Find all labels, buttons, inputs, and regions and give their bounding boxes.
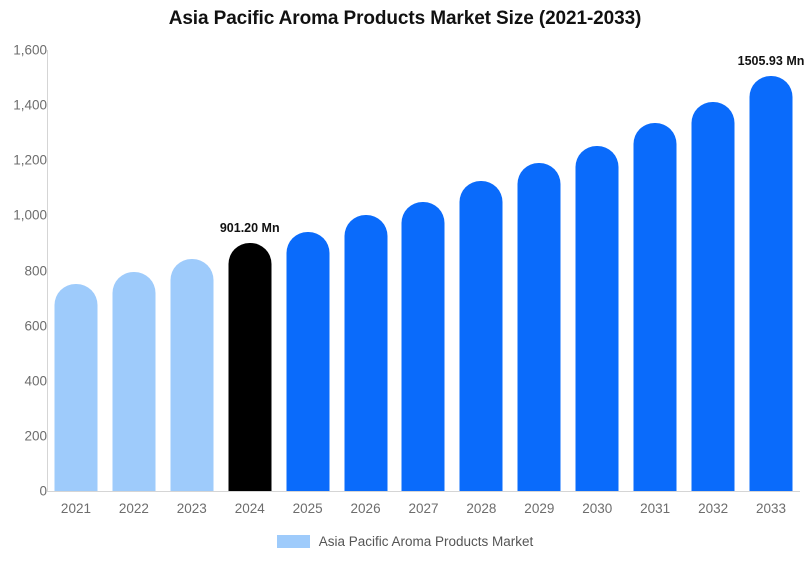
bar-group: 1505.93 Mn2033	[742, 0, 800, 562]
y-axis-tick-label: 0	[3, 484, 47, 499]
x-axis-tick-label: 2032	[698, 501, 728, 516]
bar-group: 2030	[568, 0, 626, 562]
bars-layer: 202120222023901.20 Mn2024202520262027202…	[47, 0, 800, 562]
x-axis-tick-label: 2025	[293, 501, 323, 516]
y-axis-tick-label: 200	[3, 428, 47, 443]
y-axis-tick-label: 600	[3, 318, 47, 333]
bar-group: 901.20 Mn2024	[221, 0, 279, 562]
bar-2033[interactable]	[750, 76, 793, 491]
x-axis-tick-label: 2024	[235, 501, 265, 516]
y-axis-tick-label: 1,600	[3, 43, 47, 58]
bar-group: 2022	[105, 0, 163, 562]
y-axis-tick-label: 1,200	[3, 153, 47, 168]
bar-value-label: 901.20 Mn	[220, 221, 280, 235]
bar-2021[interactable]	[54, 284, 97, 491]
x-axis-tick-label: 2029	[524, 501, 554, 516]
bar-group: 2025	[279, 0, 337, 562]
bar-chart: Asia Pacific Aroma Products Market Size …	[0, 0, 810, 562]
legend-swatch	[277, 535, 310, 548]
bar-2031[interactable]	[634, 123, 677, 491]
bar-group: 2032	[684, 0, 742, 562]
bar-group: 2027	[395, 0, 453, 562]
x-axis-tick-label: 2023	[177, 501, 207, 516]
y-axis: 02004006008001,0001,2001,4001,600	[0, 0, 47, 562]
bar-2029[interactable]	[518, 163, 561, 491]
legend-label: Asia Pacific Aroma Products Market	[319, 534, 534, 549]
bar-group: 2029	[510, 0, 568, 562]
bar-group: 2021	[47, 0, 105, 562]
bar-2030[interactable]	[576, 146, 619, 491]
bar-group: 2026	[337, 0, 395, 562]
bar-2022[interactable]	[112, 272, 155, 491]
bar-group: 2028	[452, 0, 510, 562]
x-axis-tick-label: 2028	[466, 501, 496, 516]
bar-2026[interactable]	[344, 215, 387, 491]
bar-2032[interactable]	[692, 102, 735, 491]
bar-2027[interactable]	[402, 202, 445, 491]
bar-group: 2031	[626, 0, 684, 562]
bar-2025[interactable]	[286, 232, 329, 491]
y-axis-tick-label: 1,400	[3, 98, 47, 113]
y-axis-tick-label: 1,000	[3, 208, 47, 223]
x-axis-tick-label: 2026	[351, 501, 381, 516]
bar-value-label: 1505.93 Mn	[738, 54, 805, 68]
x-axis-tick-label: 2030	[582, 501, 612, 516]
x-axis-tick-label: 2021	[61, 501, 91, 516]
chart-legend: Asia Pacific Aroma Products Market	[0, 534, 810, 549]
bar-2023[interactable]	[170, 259, 213, 491]
y-axis-tick-label: 400	[3, 373, 47, 388]
bar-2028[interactable]	[460, 181, 503, 491]
x-axis-tick-label: 2033	[756, 501, 786, 516]
y-axis-tick-label: 800	[3, 263, 47, 278]
x-axis-tick-label: 2022	[119, 501, 149, 516]
bar-group: 2023	[163, 0, 221, 562]
x-axis-tick-label: 2027	[408, 501, 438, 516]
x-axis-tick-label: 2031	[640, 501, 670, 516]
bar-2024[interactable]	[228, 243, 271, 491]
